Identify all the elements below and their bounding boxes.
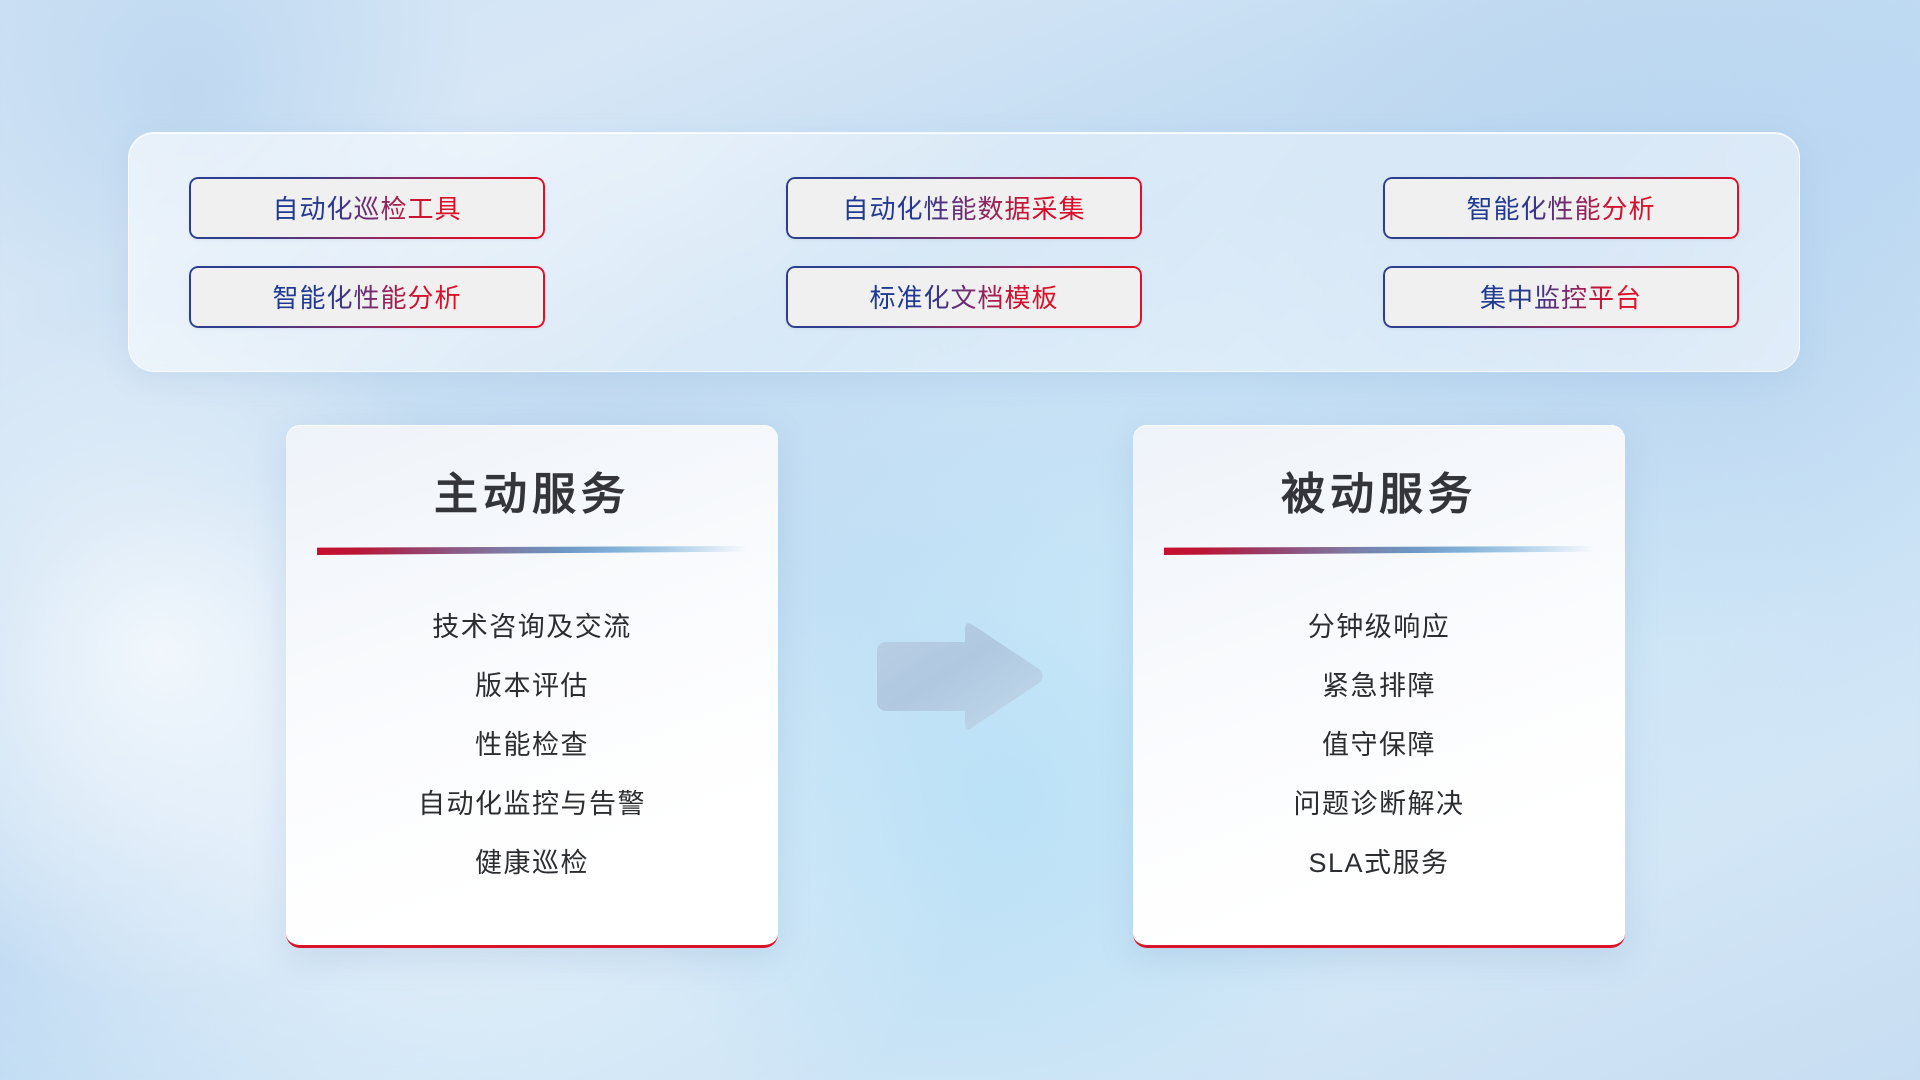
capability-tag-label: 自动化巡检工具 <box>272 189 461 226</box>
title-divider-gradient-bar <box>317 546 747 555</box>
service-item: SLA式服务 <box>1133 834 1625 893</box>
capability-tag-intelligent-performance-analysis[interactable]: 智能化性能分析 <box>1383 177 1739 239</box>
service-item: 值守保障 <box>1133 716 1625 775</box>
capability-tag-standardized-document-template[interactable]: 标准化文档模板 <box>786 266 1142 328</box>
capability-tag-label: 自动化性能数据采集 <box>842 189 1085 226</box>
arrow-right-icon: 主动服务 指向 被动服务 <box>873 620 1046 733</box>
service-item-list: 分钟级响应 紧急排障 值守保障 问题诊断解决 SLA式服务 <box>1133 598 1625 893</box>
service-item: 技术咨询及交流 <box>286 598 778 657</box>
service-card-proactive[interactable]: 主动服务 技术咨询及交流 版本评估 性能检查 自动化监控与告警 健康巡检 <box>286 425 778 948</box>
capability-tag-automated-inspection-tool[interactable]: 自动化巡检工具 <box>189 177 545 239</box>
capability-tag-intelligent-performance-analysis-2[interactable]: 智能化性能分析 <box>189 266 545 328</box>
capability-tag-centralized-monitoring-platform[interactable]: 集中监控平台 <box>1383 266 1739 328</box>
service-item: 问题诊断解决 <box>1133 775 1625 834</box>
capability-tag-row-1: 自动化巡检工具 自动化性能数据采集 智能化性能分析 <box>189 177 1739 239</box>
service-card-reactive[interactable]: 被动服务 分钟级响应 紧急排障 值守保障 问题诊断解决 SLA式服务 <box>1133 425 1625 948</box>
arrow-label: 主动服务 指向 被动服务 <box>873 733 874 734</box>
service-item: 分钟级响应 <box>1133 598 1625 657</box>
service-card-title: 主动服务 <box>286 458 778 522</box>
title-divider <box>317 546 747 556</box>
capability-tag-label: 智能化性能分析 <box>1466 189 1655 226</box>
service-item: 紧急排障 <box>1133 657 1625 716</box>
service-item: 自动化监控与告警 <box>286 775 778 834</box>
service-item: 性能检查 <box>286 716 778 775</box>
service-item-list: 技术咨询及交流 版本评估 性能检查 自动化监控与告警 健康巡检 <box>286 598 778 893</box>
capability-tag-label: 集中监控平台 <box>1480 278 1642 315</box>
title-divider <box>1164 546 1594 556</box>
service-item: 健康巡检 <box>286 834 778 893</box>
service-item: 版本评估 <box>286 657 778 716</box>
capability-tag-automated-performance-data-collection[interactable]: 自动化性能数据采集 <box>786 177 1142 239</box>
capability-tag-label: 智能化性能分析 <box>272 278 461 315</box>
capability-tags-panel: 自动化巡检工具 自动化性能数据采集 智能化性能分析 智能化性能分析 标准化文档模… <box>128 132 1800 372</box>
title-divider-gradient-bar <box>1164 546 1594 555</box>
capability-tag-label: 标准化文档模板 <box>869 278 1058 315</box>
capability-tag-row-2: 智能化性能分析 标准化文档模板 集中监控平台 <box>189 266 1739 328</box>
service-card-title: 被动服务 <box>1133 458 1625 522</box>
